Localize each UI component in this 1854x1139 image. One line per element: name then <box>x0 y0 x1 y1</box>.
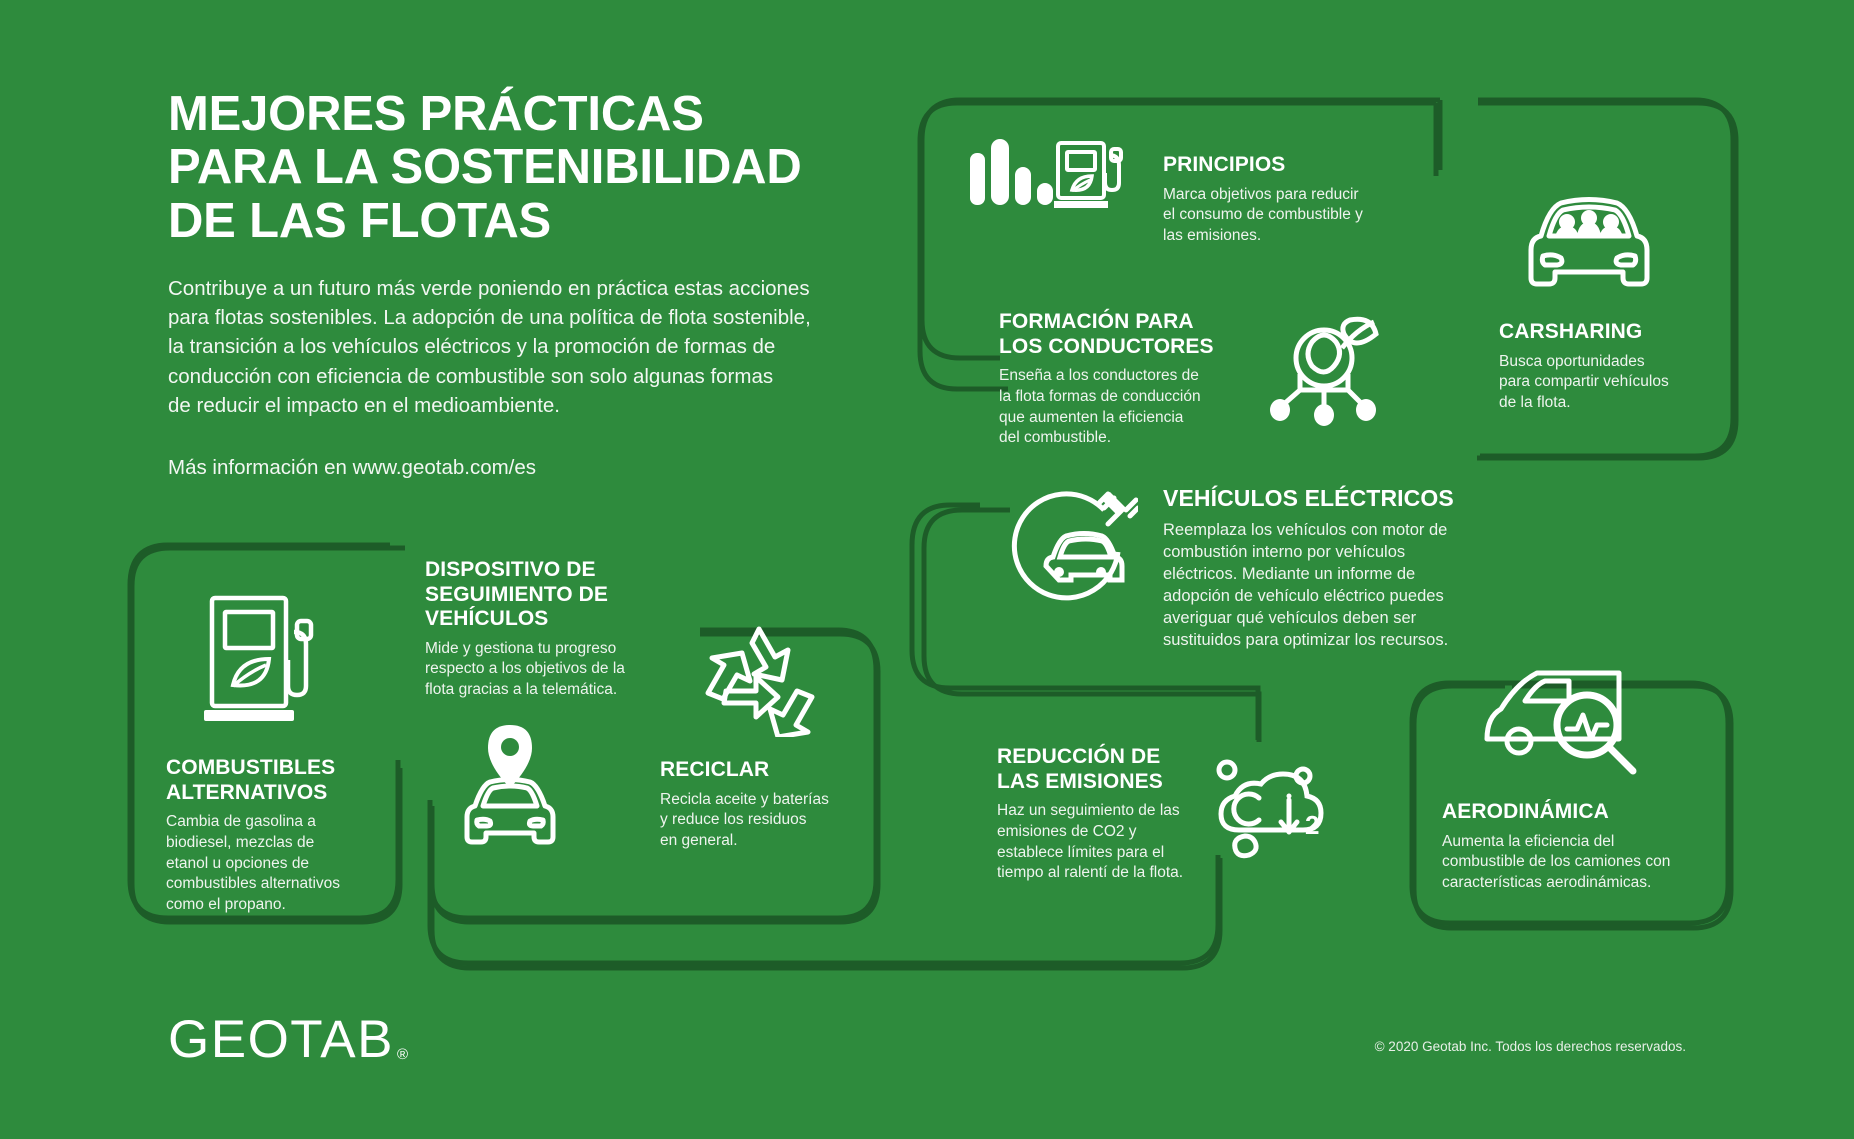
block-vehiculos-electricos-title: VEHÍCULOS ELÉCTRICOS <box>1163 485 1463 512</box>
car-gps-pin-icon <box>455 725 565 850</box>
block-combustibles-title: COMBUSTIBLES ALTERNATIVOS <box>166 756 386 805</box>
block-formacion-title: FORMACIÓN PARA LOS CONDUCTORES <box>999 310 1249 359</box>
block-emisiones-title: REDUCCIÓN DE LAS EMISIONES <box>997 745 1227 794</box>
block-vehiculos-electricos-body: Reemplaza los vehículos con motor de com… <box>1163 519 1463 652</box>
block-aerodinamica: AERODINÁMICA Aumenta la eficiencia del c… <box>1442 800 1712 894</box>
block-dispositivo-title: DISPOSITIVO DE SEGUIMIENTO DE VEHÍCULOS <box>425 558 655 632</box>
block-reciclar-title: RECICLAR <box>660 758 875 783</box>
hero-description: Contribuye a un futuro más verde poniend… <box>168 274 868 420</box>
block-combustibles-body: Cambia de gasolina a biodiesel, mezclas … <box>166 812 386 916</box>
block-principios-title: PRINCIPIOS <box>1163 153 1393 178</box>
geotab-logo[interactable]: GEOTAB ® <box>168 1013 408 1066</box>
block-formacion-body: Enseña a los conductores de la flota for… <box>999 366 1249 449</box>
block-aerodinamica-title: AERODINÁMICA <box>1442 800 1712 825</box>
electric-vehicle-plug-icon <box>1008 488 1138 618</box>
block-carsharing: CARSHARING Busca oportunidades para comp… <box>1499 320 1714 414</box>
page-title: MEJORES PRÁCTICAS PARA LA SOSTENIBILIDAD… <box>168 88 868 248</box>
block-formacion: FORMACIÓN PARA LOS CONDUCTORES Enseña a … <box>999 310 1249 449</box>
recycle-icon <box>700 625 818 737</box>
block-dispositivo-seguimiento: DISPOSITIVO DE SEGUIMIENTO DE VEHÍCULOS … <box>425 558 655 701</box>
block-dispositivo-body: Mide y gestiona tu progreso respecto a l… <box>425 639 655 701</box>
car-with-passengers-icon <box>1519 190 1659 300</box>
block-reciclar-body: Recicla aceite y baterías y reduce los r… <box>660 790 875 852</box>
block-reciclar: RECICLAR Recicla aceite y baterías y red… <box>660 758 875 852</box>
hero-link[interactable]: Más información en www.geotab.com/es <box>168 454 868 483</box>
fuel-pump-leaf-icon <box>198 588 333 728</box>
block-reduccion-emisiones: REDUCCIÓN DE LAS EMISIONES Haz un seguim… <box>997 745 1227 884</box>
block-emisiones-body: Haz un seguimiento de las emisiones de C… <box>997 801 1227 884</box>
copyright-notice: © 2020 Geotab Inc. Todos los derechos re… <box>1375 1039 1686 1054</box>
block-aerodinamica-body: Aumenta la eficiencia del combustible de… <box>1442 832 1712 894</box>
co2-cloud-icon: 2 <box>1213 748 1338 863</box>
block-combustibles-alternativos: COMBUSTIBLES ALTERNATIVOS Cambia de gaso… <box>166 756 386 916</box>
svg-text:2: 2 <box>1305 810 1319 840</box>
block-principios-body: Marca objetivos para reducir el consumo … <box>1163 185 1393 247</box>
fuel-pump-chart-icon <box>968 135 1128 210</box>
hero-section: MEJORES PRÁCTICAS PARA LA SOSTENIBILIDAD… <box>168 88 868 482</box>
block-vehiculos-electricos: VEHÍCULOS ELÉCTRICOS Reemplaza los vehíc… <box>1163 485 1463 652</box>
registered-trademark-icon: ® <box>397 1046 408 1063</box>
infographic-poster: MEJORES PRÁCTICAS PARA LA SOSTENIBILIDAD… <box>0 0 1854 1139</box>
driver-training-leaf-icon <box>1262 312 1382 427</box>
block-principios: PRINCIPIOS Marca objetivos para reducir … <box>1163 153 1393 247</box>
geotab-logo-text: GEOTAB <box>168 1013 394 1066</box>
block-carsharing-title: CARSHARING <box>1499 320 1714 345</box>
truck-magnifier-icon <box>1479 663 1654 783</box>
block-carsharing-body: Busca oportunidades para compartir vehíc… <box>1499 352 1714 414</box>
